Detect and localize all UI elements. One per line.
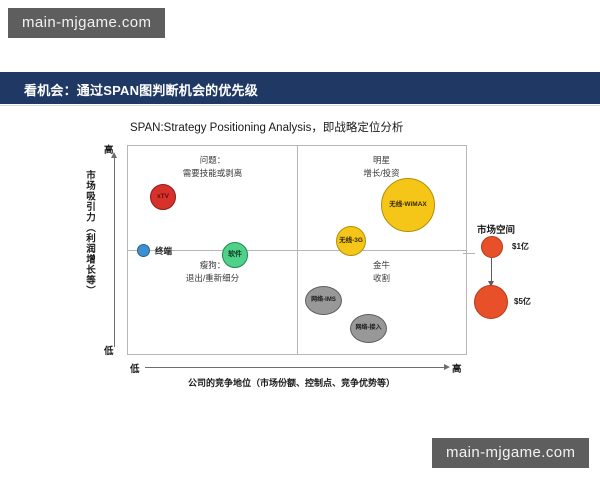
bubble-network-access[interactable]: 网络-接入	[350, 314, 387, 343]
x-axis-arrow-head	[444, 364, 450, 370]
legend-bubble-large	[474, 285, 508, 319]
quadrant-action: 增长/投资	[363, 167, 399, 180]
y-axis-arrow-head	[111, 152, 117, 158]
legend-separator	[463, 253, 475, 254]
bubble-xtv[interactable]: xTV	[150, 184, 176, 210]
bubble-terminal[interactable]	[137, 244, 150, 257]
bubble-label: 无线-3G	[339, 237, 363, 244]
bubble-terminal-label: 终端	[155, 245, 172, 257]
chart-title: SPAN:Strategy Positioning Analysis，即战略定位…	[130, 119, 403, 135]
quadrant-divider-horizontal	[128, 250, 466, 251]
span-matrix-plot: 问题： 需要技能或剥离 明星 增长/投资 瘦狗： 退出/重新细分 金牛 收割 网…	[127, 145, 467, 355]
bubble-label: 无线-WiMAX	[389, 201, 427, 208]
y-axis-title: 市场吸引力（利润增长等）	[78, 170, 94, 296]
x-axis-arrow	[145, 367, 445, 368]
quadrant-name: 问题：	[183, 154, 243, 167]
page-title: 看机会：通过SPAN图判断机会的优先级	[24, 80, 258, 99]
x-axis-title: 公司的竞争地位（市场份额、控制点、竞争优势等）	[188, 376, 395, 389]
bubble-label: 网络-接入	[356, 325, 382, 332]
y-axis-arrow	[114, 157, 115, 347]
x-axis-tick-low: 低	[130, 361, 140, 375]
bubble-wireless-wimax[interactable]: 无线-WiMAX	[381, 178, 435, 232]
quadrant-action: 需要技能或剥离	[183, 167, 243, 180]
watermark-bottom: main-mjgame.com	[432, 438, 589, 468]
quadrant-label-top-left: 问题： 需要技能或剥离	[183, 154, 243, 180]
quadrant-label-bottom-right: 金牛 收割	[373, 259, 390, 285]
legend-connector-arrow	[491, 258, 492, 286]
quadrant-name: 金牛	[373, 259, 390, 272]
bubble-label: xTV	[157, 193, 169, 200]
quadrant-name: 明星	[363, 154, 399, 167]
quadrant-action: 退出/重新细分	[186, 272, 239, 285]
legend-bubble-small	[481, 236, 503, 258]
header-divider	[0, 105, 600, 106]
bubble-label: 软件	[228, 251, 242, 259]
legend-label-large: $5亿	[514, 296, 531, 307]
bubble-software[interactable]: 软件	[222, 242, 248, 268]
quadrant-action: 收割	[373, 272, 390, 285]
legend-title: 市场空间	[477, 222, 515, 236]
quadrant-label-top-right: 明星 增长/投资	[363, 154, 399, 180]
header-banner: 看机会：通过SPAN图判断机会的优先级	[0, 72, 600, 104]
x-axis-tick-high: 高	[452, 361, 462, 375]
y-axis-tick-low: 低	[104, 343, 114, 357]
bubble-label: 网络-IMS	[311, 297, 336, 304]
legend-label-small: $1亿	[512, 241, 529, 252]
watermark-top: main-mjgame.com	[8, 8, 165, 38]
bubble-network-ims[interactable]: 网络-IMS	[305, 286, 342, 315]
bubble-wireless-3g[interactable]: 无线-3G	[336, 226, 366, 256]
